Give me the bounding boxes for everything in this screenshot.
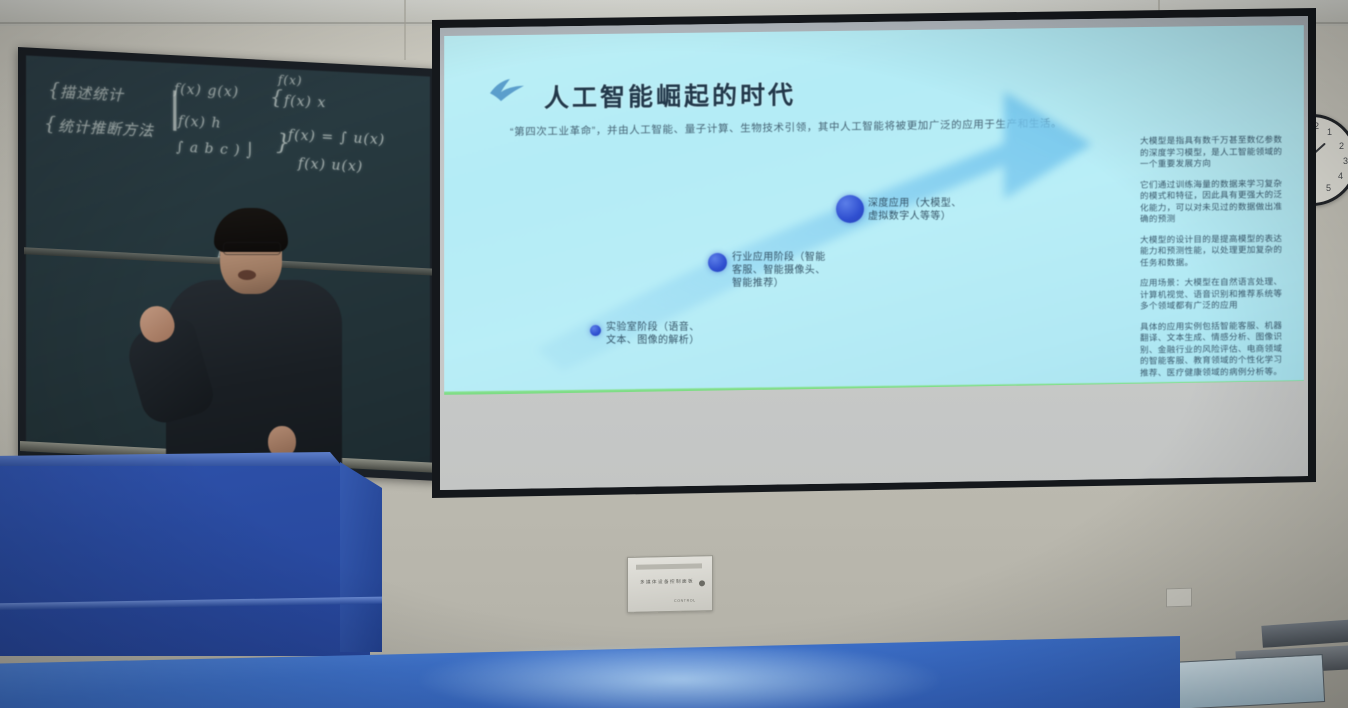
right-light-panel	[1171, 654, 1325, 708]
presentation-slide: 人工智能崛起的时代 “第四次工业革命”，并由人工智能、量子计算、生物技术引领，其…	[444, 25, 1304, 395]
side-note-2: 它们通过训练海量的数据来学习复杂的模式和特征，因此具有更强大的泛化能力，可以对未…	[1140, 178, 1290, 226]
control-panel-vent	[636, 563, 702, 569]
chalk-line-8: f(x) = ∫ u(x)	[288, 127, 385, 148]
side-note-3: 大模型的设计目的是提高模型的表达能力和预测性能，以处理更加复杂的任务和数据。	[1140, 233, 1290, 269]
side-note-5: 具体的应用实例包括智能客服、机器翻译、文本生成、情感分析、图像识别、金融行业的风…	[1140, 320, 1290, 379]
control-panel-label: 多媒体设备控制面板	[640, 578, 694, 585]
milestone-label-3: 深度应用（大模型、虚拟数字人等等）	[868, 197, 968, 223]
clock-number-2: 2	[1339, 141, 1344, 151]
milestone-label-1: 实验室阶段（语音、文本、图像的解析）	[606, 321, 706, 347]
wall-control-panel[interactable]: 多媒体设备控制面板 CONTROL	[627, 555, 713, 613]
chalk-line-2: 统计推断方法	[58, 115, 154, 141]
clock-number-1: 1	[1327, 127, 1332, 137]
chalk-brace-4: }	[276, 131, 291, 157]
clock-number-4: 4	[1338, 171, 1343, 181]
chalk-line-7: f(x) x	[284, 93, 326, 111]
wall-outlet	[1166, 588, 1192, 608]
milestone-dot-1	[590, 325, 601, 336]
milestone-dot-3	[836, 195, 864, 223]
chalk-vbar-1: |	[168, 85, 182, 132]
chalk-brace-3: {	[270, 84, 284, 109]
clock-number-3: 3	[1343, 156, 1348, 166]
lectern-side-panel	[340, 462, 382, 652]
chalk-line-5: ∫ a b c ) ⌡	[176, 139, 254, 159]
presenter-mouth	[238, 270, 256, 280]
chalk-line-4: f(x) h	[178, 113, 221, 131]
milestone-label-2: 行业应用阶段（智能客服、智能摄像头、智能推荐）	[732, 251, 834, 290]
presenter-glasses	[223, 242, 281, 255]
side-note-1: 大模型是指具有数千万甚至数亿参数的深度学习模型，是人工智能领域的一个重要发展方向	[1140, 134, 1290, 170]
control-panel-knob[interactable]	[699, 580, 705, 586]
control-panel-sublabel: CONTROL	[674, 598, 696, 602]
chalk-line-9: f(x) u(x)	[298, 156, 363, 175]
chalk-line-1: 描述统计	[60, 81, 124, 105]
side-note-4: 应用场景：大模型在自然语言处理、计算机视觉、语音识别和推荐系统等多个领域都有广泛…	[1140, 276, 1290, 312]
wall-seam-left	[404, 0, 406, 60]
classroom-scene: 12 1 2 3 4 5 6 7 8 9 10 11 { 描述统计 { 统计推断…	[0, 0, 1348, 708]
clock-number-5: 5	[1326, 183, 1331, 193]
foreground-desk-glare	[420, 648, 940, 708]
chalk-brace-2: {	[44, 112, 57, 135]
milestone-dot-2	[708, 253, 727, 272]
lectern-podium	[0, 456, 370, 656]
slide-side-notes: 大模型是指具有数千万甚至数亿参数的深度学习模型，是人工智能领域的一个重要发展方向…	[1140, 134, 1290, 388]
chalk-line-3: f(x) g(x)	[174, 81, 239, 100]
